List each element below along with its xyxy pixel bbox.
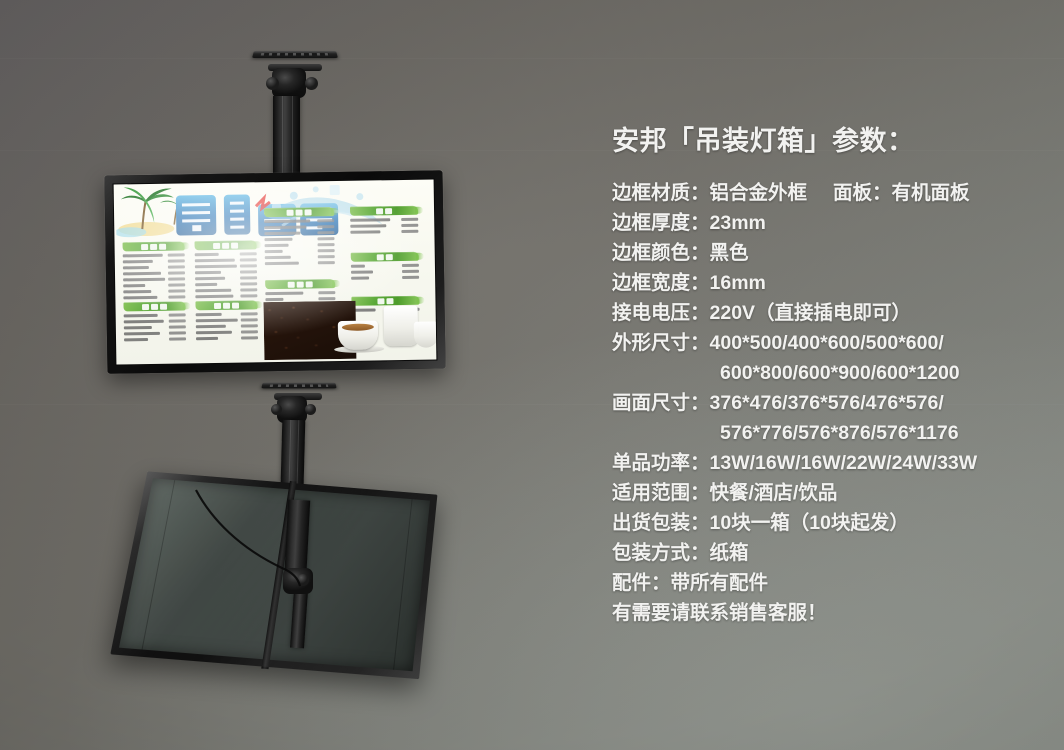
spec-row-frame-width: 边框宽度：16mm	[612, 268, 1052, 298]
spec-row-frame-color: 边框颜色：黑色	[612, 238, 1052, 268]
spec-row-outer-size: 外形尺寸：400*500/400*600/500*600/	[612, 328, 1052, 358]
spec-value: 400*500/400*600/500*600/	[710, 332, 944, 354]
spec-value: 纸箱	[710, 542, 749, 564]
spec-row-contact-note: 有需要请联系销售客服！	[612, 598, 1052, 628]
spec-value: 13W/16W/16W/22W/24W/33W	[710, 452, 978, 474]
spec-value: 铝合金外框	[710, 182, 808, 204]
spec-value: 600*800/600*900/600*1200	[720, 362, 960, 384]
spec-value: 376*476/376*576/476*576/	[710, 392, 944, 414]
spec-row-graphic-size: 画面尺寸：376*476/376*576/476*576/	[612, 388, 1052, 418]
spec-list: 安邦「吊装灯箱」参数： 边框材质：铝合金外框面板：有机面板 边框厚度：23mm …	[612, 120, 1052, 628]
product-spec-image: 安邦「吊装灯箱」参数： 边框材质：铝合金外框面板：有机面板 边框厚度：23mm …	[0, 0, 1064, 750]
spec-value-2: 有机面板	[892, 182, 970, 204]
spec-value: 220V（直接插电即可）	[710, 302, 912, 324]
spec-row-voltage: 接电电压：220V（直接插电即可）	[612, 298, 1052, 328]
spec-label: 包装方式：	[612, 542, 710, 564]
spec-row-frame-thickness: 边框厚度：23mm	[612, 208, 1052, 238]
spec-row-packing-method: 包装方式：纸箱	[612, 538, 1052, 568]
spec-value: 有需要请联系销售客服！	[612, 602, 827, 624]
spec-label: 画面尺寸：	[612, 392, 710, 414]
spec-label: 边框颜色：	[612, 242, 710, 264]
power-cable	[0, 0, 520, 750]
spec-label: 边框材质：	[612, 182, 710, 204]
spec-value: 快餐/酒店/饮品	[710, 482, 838, 504]
spec-row-accessories: 配件：带所有配件	[612, 568, 1052, 598]
spec-label: 适用范围：	[612, 482, 710, 504]
spec-label: 外形尺寸：	[612, 332, 710, 354]
spec-row-outer-size-cont: 600*800/600*900/600*1200	[612, 358, 1052, 388]
spec-label: 边框宽度：	[612, 272, 710, 294]
spec-value: 16mm	[710, 272, 766, 294]
spec-row-shipping-pack: 出货包装：10块一箱（10块起发）	[612, 508, 1052, 538]
spec-row-power: 单品功率：13W/16W/16W/22W/24W/33W	[612, 448, 1052, 478]
spec-value: 带所有配件	[671, 572, 769, 594]
spec-value: 23mm	[710, 212, 766, 234]
product-photo	[0, 0, 520, 750]
spec-label: 接电电压：	[612, 302, 710, 324]
spec-row-application: 适用范围：快餐/酒店/饮品	[612, 478, 1052, 508]
spec-label-2: 面板：	[833, 182, 892, 204]
spec-label: 配件：	[612, 572, 671, 594]
spec-label: 出货包装：	[612, 512, 710, 534]
spec-row-graphic-size-cont: 576*776/576*876/576*1176	[612, 418, 1052, 448]
page-title: 安邦「吊装灯箱」参数：	[612, 120, 1052, 162]
spec-value: 576*776/576*876/576*1176	[720, 422, 959, 444]
spec-value: 10块一箱（10块起发）	[710, 512, 909, 534]
spec-label: 单品功率：	[612, 452, 710, 474]
spec-value: 黑色	[710, 242, 749, 264]
spec-row-frame-material: 边框材质：铝合金外框面板：有机面板	[612, 178, 1052, 208]
spec-label: 边框厚度：	[612, 212, 710, 234]
